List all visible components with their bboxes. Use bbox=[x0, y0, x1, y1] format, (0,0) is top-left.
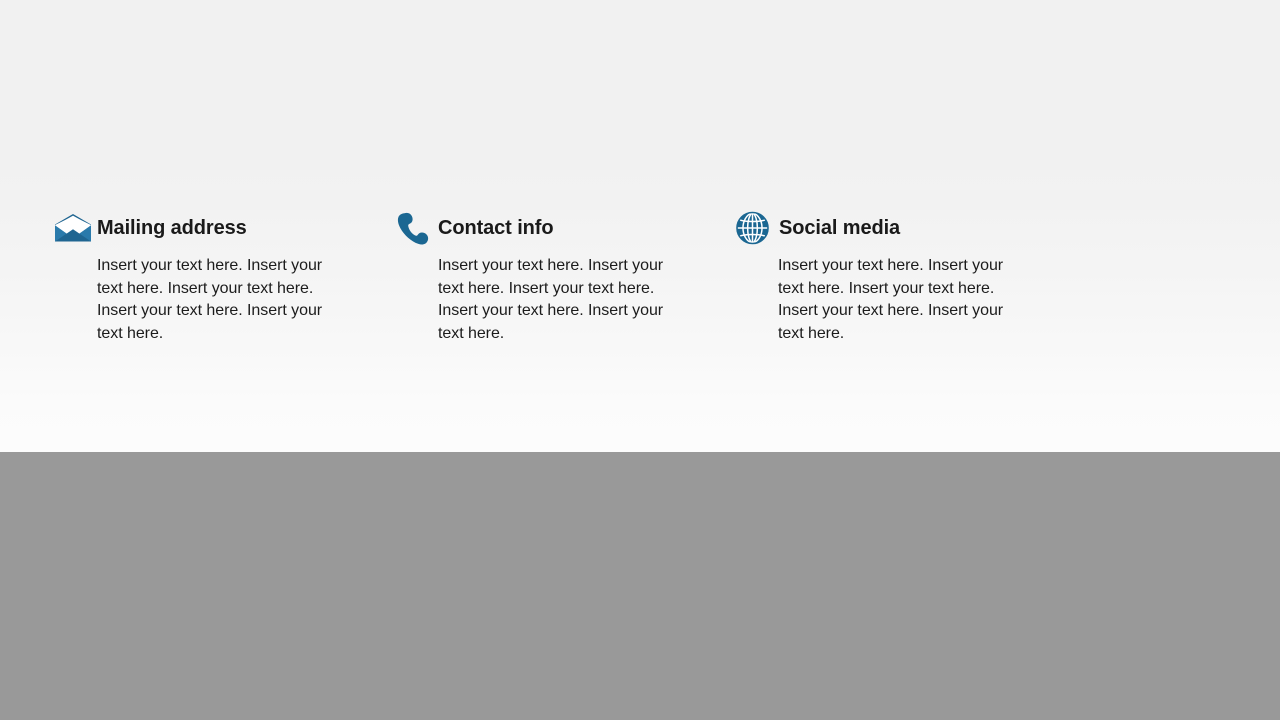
column-title: Mailing address bbox=[97, 216, 247, 240]
column-social-media: Social media Insert your text here. Inse… bbox=[735, 210, 1076, 345]
column-contact-info: Contact info Insert your text here. Inse… bbox=[395, 210, 736, 345]
column-body-text: Insert your text here. Insert your text … bbox=[438, 255, 681, 345]
column-mailing-address: Mailing address Insert your text here. I… bbox=[54, 210, 395, 345]
envelope-icon bbox=[54, 210, 92, 246]
column-body-text: Insert your text here. Insert your text … bbox=[778, 255, 1021, 345]
column-title: Social media bbox=[779, 216, 900, 240]
globe-icon bbox=[735, 210, 773, 246]
slide-canvas: Mailing address Insert your text here. I… bbox=[0, 0, 1280, 720]
column-body-text: Insert your text here. Insert your text … bbox=[97, 255, 340, 345]
phone-icon bbox=[395, 210, 433, 246]
column-title: Contact info bbox=[438, 216, 553, 240]
background-band-bottom bbox=[0, 452, 1280, 720]
background-band-top bbox=[0, 0, 1280, 168]
column-header: Contact info bbox=[395, 210, 736, 246]
contact-columns: Mailing address Insert your text here. I… bbox=[0, 210, 1280, 370]
column-header: Mailing address bbox=[54, 210, 395, 246]
column-header: Social media bbox=[735, 210, 1076, 246]
